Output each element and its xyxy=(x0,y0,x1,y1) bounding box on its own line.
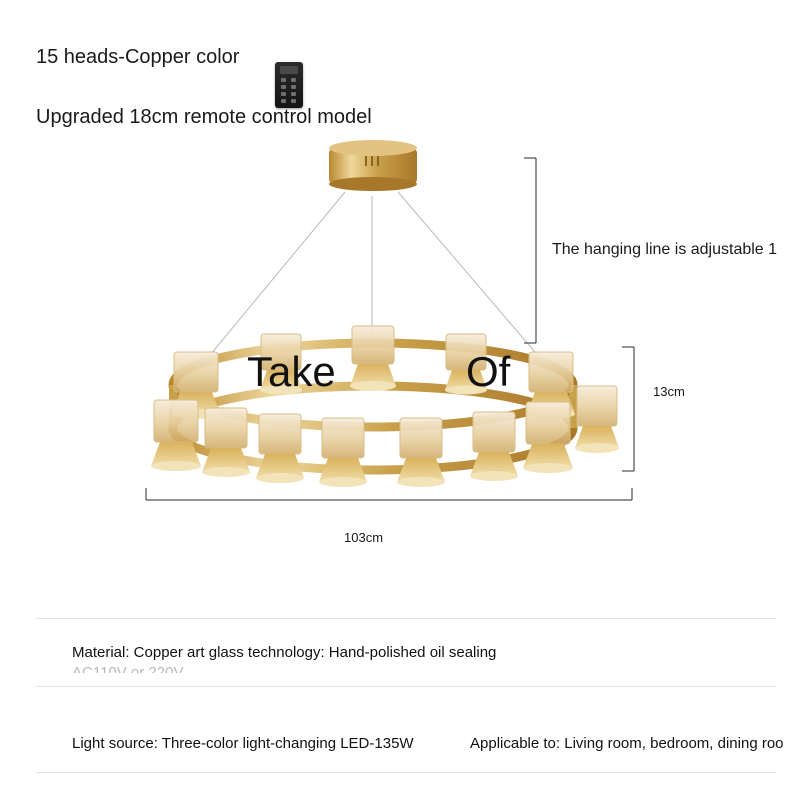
guide-width xyxy=(146,488,632,500)
divider-bottom xyxy=(36,772,776,773)
spec-light-source: Light source: Three-color light-changing… xyxy=(72,735,414,752)
spec-material-secondary: AC110V or 220V xyxy=(72,664,202,673)
label-height-dimension: 13cm xyxy=(653,384,685,399)
title-heads-color: 15 heads-Copper color xyxy=(36,46,239,69)
guide-height xyxy=(622,347,634,471)
label-hanging-line: The hanging line is adjustable 1 xyxy=(552,241,777,259)
label-width-dimension: 103cm xyxy=(344,530,383,545)
spec-material: Material: Copper art glass technology: H… xyxy=(72,644,496,661)
guide-hanging-line xyxy=(524,158,536,343)
title-remote-model: Upgraded 18cm remote control model xyxy=(36,106,372,129)
watermark-text-right: Of xyxy=(466,348,510,396)
divider-top xyxy=(36,618,776,619)
remote-control-icon xyxy=(275,62,303,108)
spec-applicable: Applicable to: Living room, bedroom, din… xyxy=(470,735,784,752)
divider-middle xyxy=(36,686,776,687)
watermark-text-left: Take xyxy=(247,348,336,396)
